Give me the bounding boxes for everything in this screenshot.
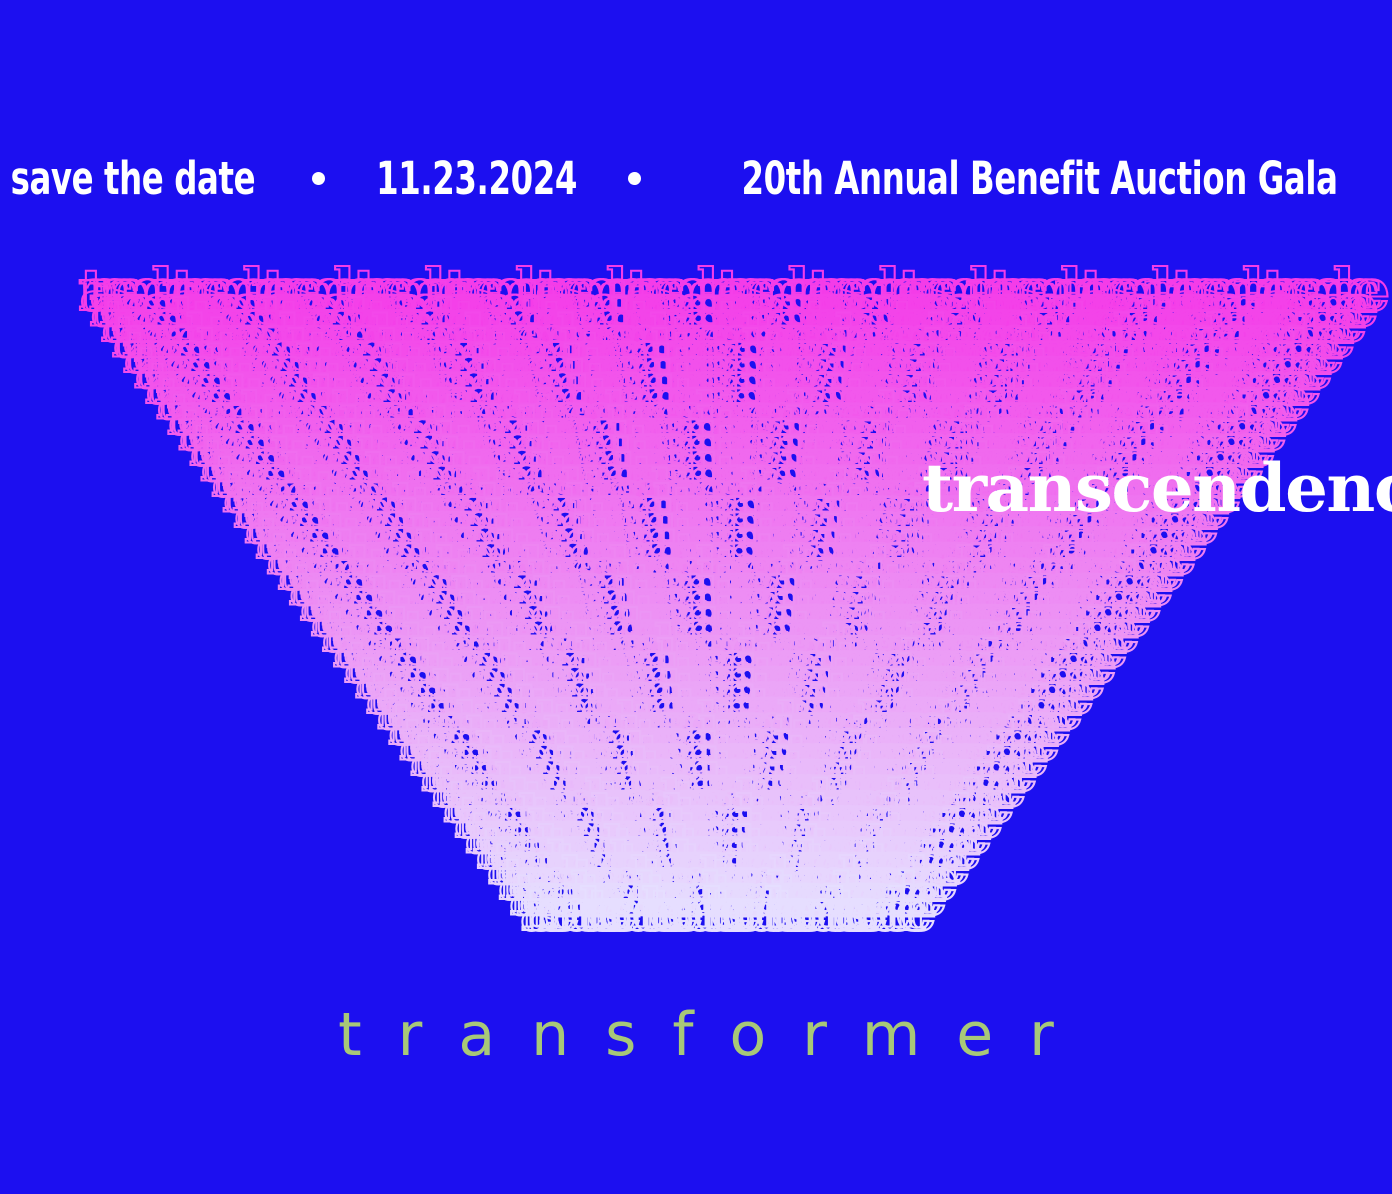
transcendence-text-row: transcendence transcendence transcendenc… [520,876,935,944]
transcendence-wordmark: transcendence [922,455,1392,521]
bullet-separator-icon [312,172,325,185]
event-title-label: 20th Annual Benefit Auction Gala [741,156,1337,201]
transcendence-text-row: transcendence transcendence transcendenc… [332,613,1126,681]
transcendence-text-row: transcendence transcendence transcendenc… [343,628,1115,696]
transcendence-text-row: transcendence transcendence transcendenc… [122,318,1342,386]
transcendence-text-row: transcendence transcendence transcendenc… [100,287,1366,355]
save-the-date-label: save the date [11,156,256,201]
poster-canvas: save the date 11.23.2024 20th Annual Ben… [0,0,1392,1194]
transcendence-text-row: transcendence transcendence transcendenc… [454,783,1002,851]
transcendence-text-row: transcendence transcendence transcendenc… [387,690,1069,758]
transcendence-text-row: transcendence transcendence transcendenc… [277,535,1183,603]
transcendence-text-row: transcendence transcendence transcendenc… [498,845,957,913]
transcendence-text-row: transcendence transcendence transcendenc… [310,582,1150,650]
transcendence-text-row: transcendence transcendence transcendenc… [421,737,1037,805]
transcendence-text-row: transcendence transcendence transcendenc… [89,272,1377,340]
transcendence-text-row: transcendence transcendence transcendenc… [443,768,1013,836]
transcendence-text-row: transcendence transcendence transcendenc… [299,566,1161,634]
header-line: save the date 11.23.2024 20th Annual Ben… [0,148,1392,208]
transcendence-text-row: transcendence transcendence transcendenc… [166,380,1297,448]
transcendence-text-row: transcendence transcendence transcendenc… [476,814,980,882]
event-date-label: 11.23.2024 [376,156,577,201]
transcendence-text-row: transcendence transcendence transcendenc… [509,861,946,929]
transcendence-text-row: transcendence transcendence transcendenc… [321,597,1138,665]
transcendence-text-row: transcendence transcendence transcendenc… [111,303,1354,371]
bullet-separator-icon-2 [628,172,641,185]
transcendence-text-row: transcendence transcendence transcendenc… [288,551,1172,619]
transcendence-text-row: transcendence transcendence transcendenc… [155,365,1308,433]
transcendence-text-row: transcendence transcendence transcendenc… [354,644,1104,712]
transcendence-text-row: transcendence transcendence transcendenc… [266,520,1195,588]
transformer-logotype: transformer [0,1005,1392,1065]
transcendence-text-row: transcendence transcendence transcendenc… [376,675,1081,743]
transcendence-text-row: transcendence transcendence transcendenc… [133,334,1331,402]
transcendence-text-row: transcendence transcendence transcendenc… [78,256,1388,324]
transcendence-text-row: transcendence transcendence transcendenc… [365,659,1093,727]
transcendence-text-row: transcendence transcendence transcendenc… [144,349,1320,417]
transcendence-text-row: transcendence transcendence transcendenc… [398,706,1058,774]
transcendence-text-row: transcendence transcendence transcendenc… [432,752,1025,820]
transcendence-text-row: transcendence transcendence transcendenc… [487,830,969,898]
transcendence-text-row: transcendence transcendence transcendenc… [410,721,1048,789]
transcendence-text-row: transcendence transcendence transcendenc… [465,799,991,867]
